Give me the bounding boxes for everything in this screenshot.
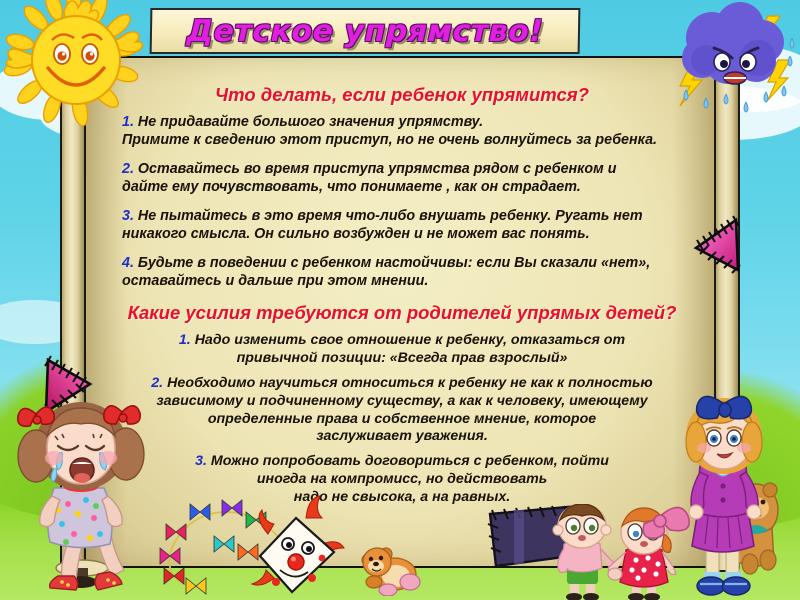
- list-item: 1. Не придавайте большого значения упрям…: [122, 113, 682, 149]
- item-line: Надо изменить свое отношение к ребенку, …: [195, 332, 625, 348]
- item-line: Примите к сведению этот приступ, но не о…: [122, 132, 657, 148]
- item-number: 4.: [122, 255, 134, 271]
- smiling-sun-icon: [2, 0, 150, 128]
- item-number: 2.: [122, 161, 134, 177]
- item-line: никакого смысла. Он сильно возбужден и н…: [122, 226, 590, 242]
- list-item: 1. Надо изменить свое отношение к ребенк…: [122, 332, 682, 368]
- item-number: 3.: [195, 453, 207, 469]
- poster-text-content: Что делать, если ребенок упрямится? 1. Н…: [122, 84, 682, 514]
- boy-and-girl-pair-icon: [536, 504, 694, 600]
- item-line: оставайтесь и дальше при этом мнении.: [122, 273, 428, 289]
- page-title: Детское упрямство!: [186, 14, 544, 49]
- item-line: зависимому и подчиненному существу, а ка…: [156, 393, 647, 409]
- item-number: 2.: [151, 375, 163, 391]
- list-item: 4. Будьте в поведении с ребенком настойч…: [122, 254, 682, 290]
- list-item: 2. Необходимо научиться относиться к реб…: [122, 375, 682, 447]
- item-line: Будьте в поведении с ребенком настойчивы…: [138, 255, 650, 271]
- item-number: 1.: [179, 332, 191, 348]
- item-line: Оставайтесь во время приступа упрямства …: [138, 161, 617, 177]
- item-line: привычной позиции: «Всегда прав взрослый…: [237, 350, 568, 366]
- section-1-list: 1. Не придавайте большого значения упрям…: [122, 113, 682, 290]
- teddy-bear-toy-icon: [352, 536, 424, 596]
- item-line: Необходимо научиться относиться к ребенк…: [167, 375, 653, 391]
- item-line: Не пытайтесь в это время что-либо внушат…: [138, 208, 643, 224]
- crying-girl-icon: [2, 392, 180, 600]
- angry-storm-cloud-icon: [662, 0, 800, 120]
- item-line: заслуживает уважения.: [316, 428, 488, 444]
- item-line: дайте ему почувствовать, что понимаете ,…: [122, 179, 581, 195]
- item-line: иногда на компромисс, но действовать: [257, 471, 547, 487]
- section-heading-2: Какие усилия требуются от родителей упря…: [122, 302, 682, 324]
- section-heading-1: Что делать, если ребенок упрямится?: [122, 84, 682, 106]
- poster-title-banner: Детское упрямство!: [150, 8, 581, 54]
- section-2-list: 1. Надо изменить свое отношение к ребенк…: [122, 332, 682, 507]
- list-item: 3. Не пытайтесь в это время что-либо вну…: [122, 207, 682, 243]
- item-line: Можно попробовать договориться с ребенко…: [211, 453, 609, 469]
- item-line: определенные права и собственное мнение,…: [208, 411, 596, 427]
- item-number: 3.: [122, 208, 134, 224]
- item-line: Не придавайте большого значения упрямств…: [138, 114, 483, 130]
- poster-canvas: Что делать, если ребенок упрямится? 1. Н…: [0, 0, 800, 600]
- list-item: 2. Оставайтесь во время приступа упрямст…: [122, 160, 682, 196]
